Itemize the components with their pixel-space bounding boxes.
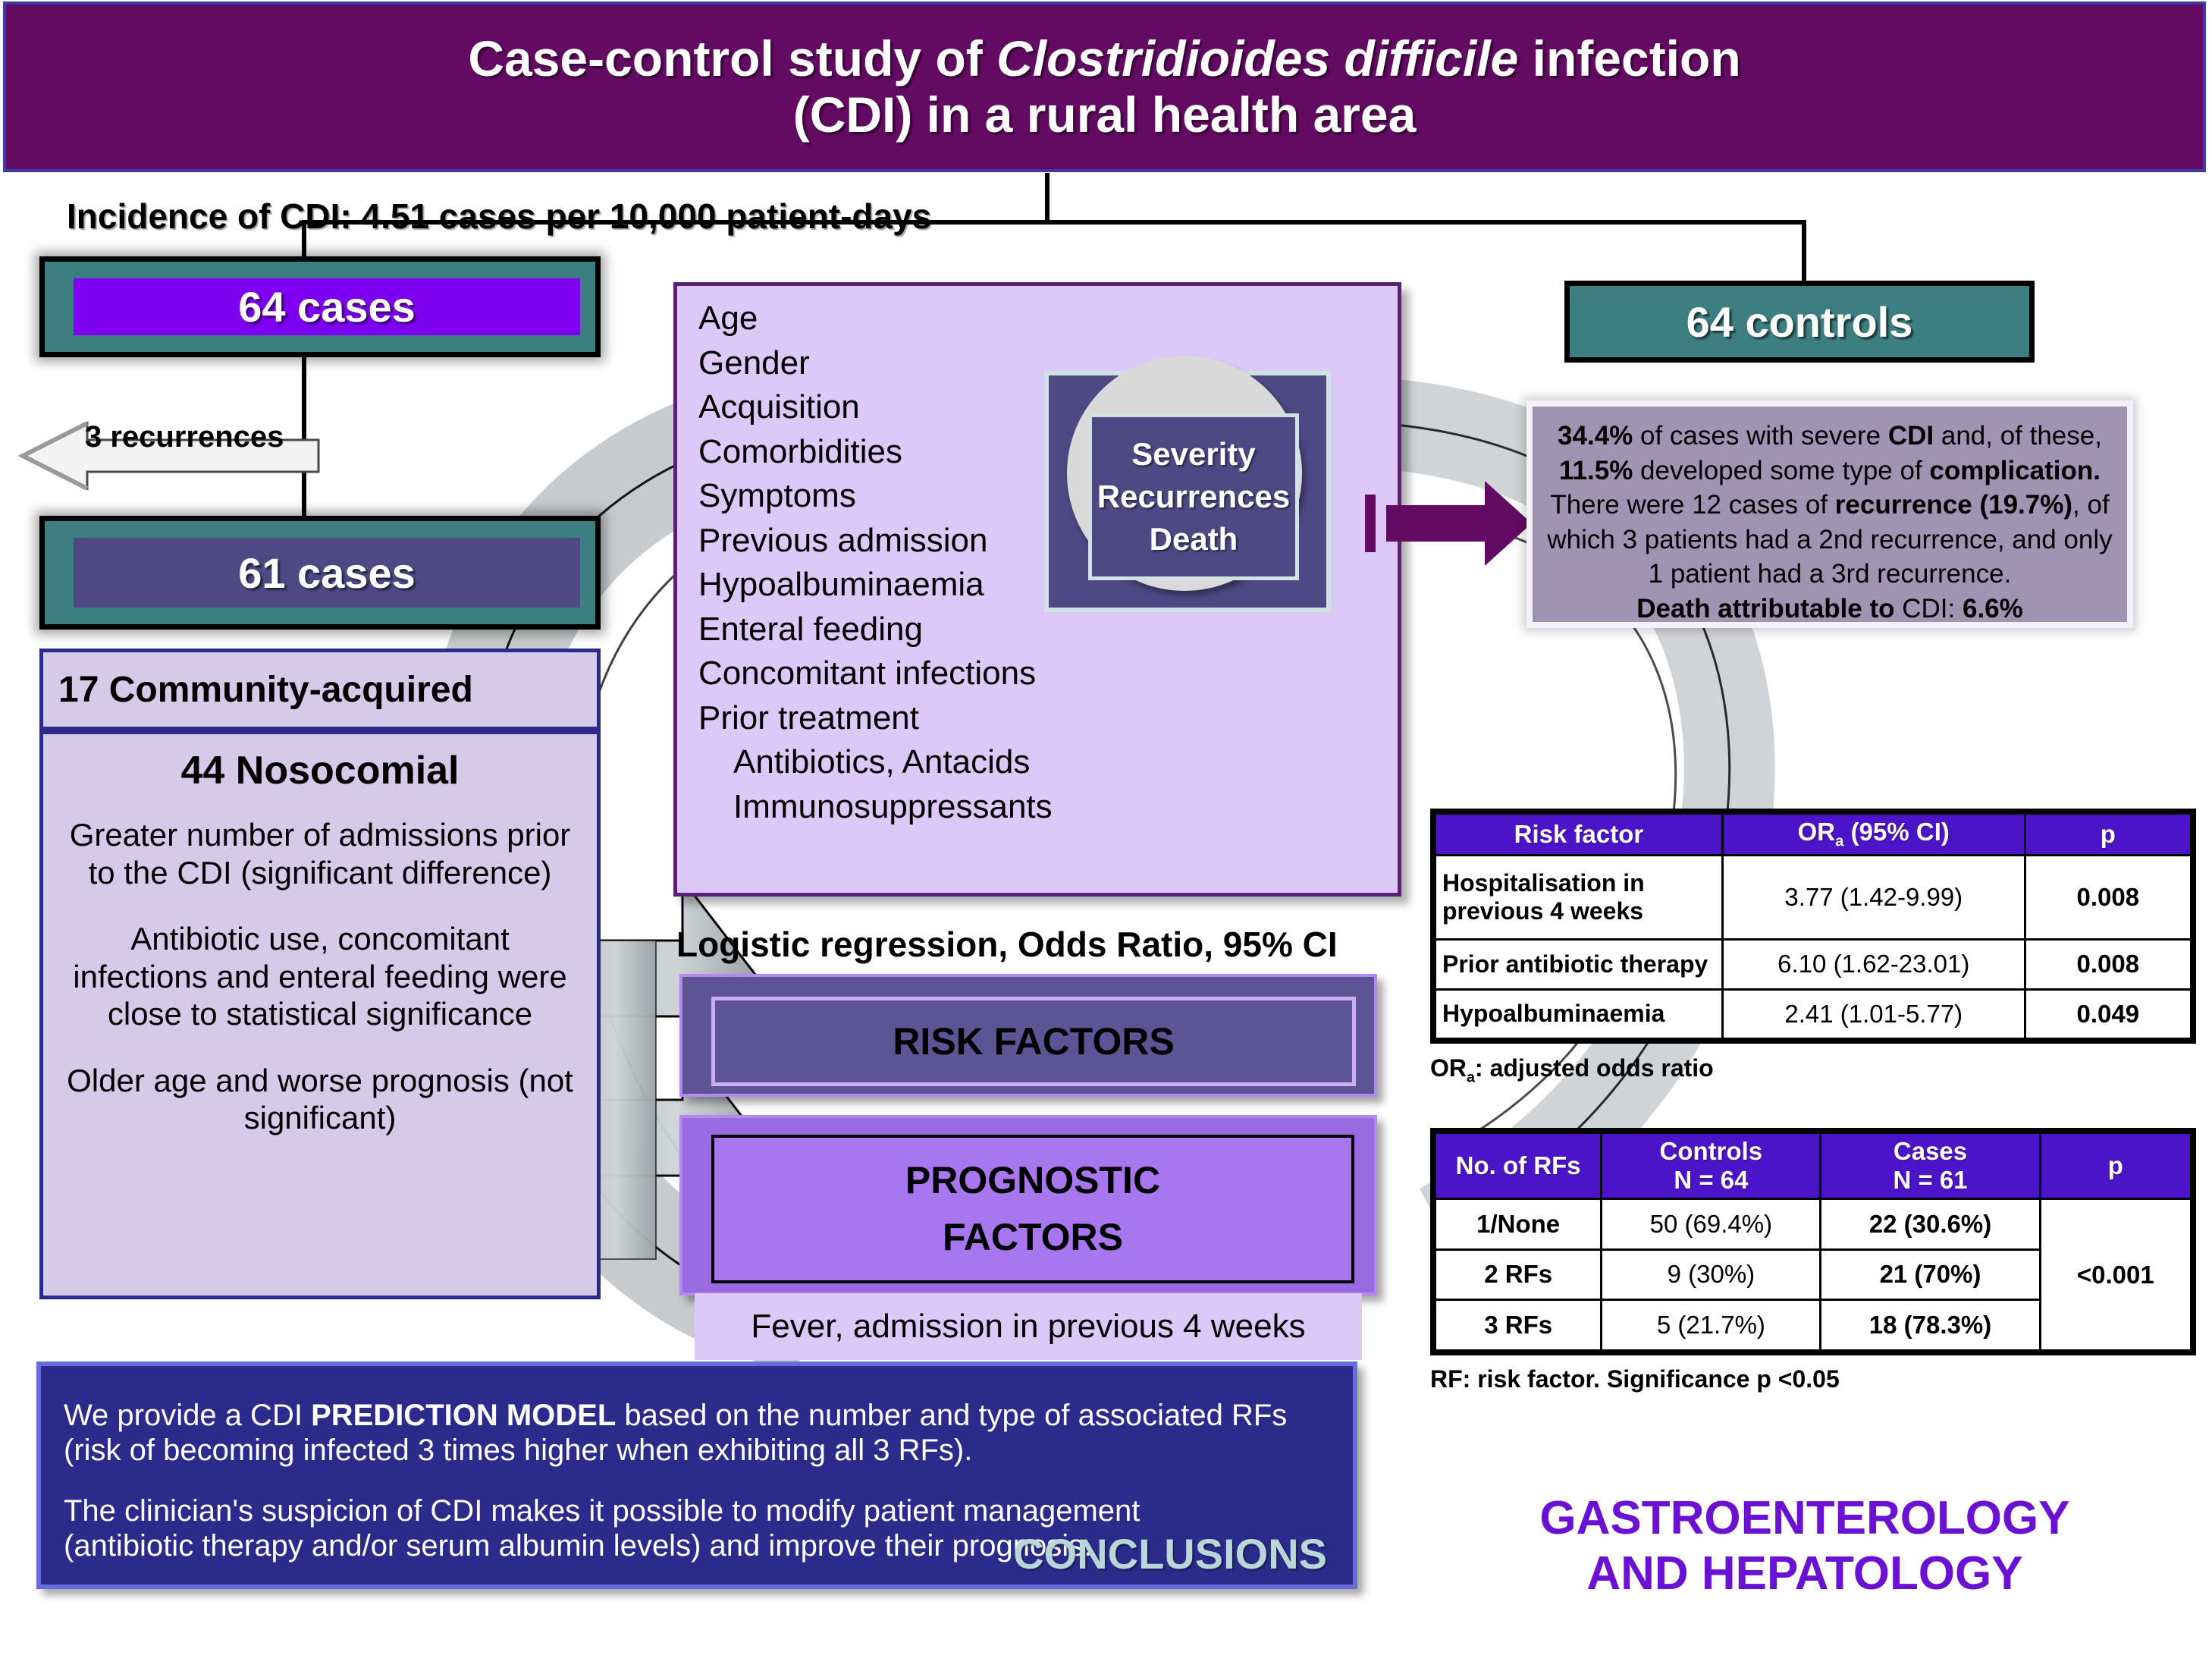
rfs-table-note: RF: risk factor. Significance p <0.05	[1430, 1365, 1840, 1393]
table-row: 1/None 50 (69.4%) 22 (30.6%) <0.001	[1435, 1199, 2192, 1250]
rfs-row2-n: 2 RFs	[1435, 1249, 1602, 1300]
severity-medallion: Severity Recurrences Death	[1044, 371, 1331, 612]
nosocomial-panel: 44 Nosocomial Greater number of admissio…	[39, 730, 601, 1299]
outcome-complication-pct: 11.5%	[1559, 456, 1633, 485]
variable-item-comorbidities: Comorbidities	[698, 430, 1053, 475]
rfs-count-table: No. of RFs ControlsN = 64 CasesN = 61 p …	[1434, 1132, 2192, 1352]
nosocomial-point-3: Older age and worse prognosis (not signi…	[60, 1062, 580, 1137]
variable-subitem-antibiotics: Antibiotics, Antacids	[698, 740, 1053, 785]
variable-item-prior-treatment: Prior treatment	[698, 696, 1053, 741]
th-cases-label: Cases	[1894, 1137, 1967, 1165]
variable-item-gender: Gender	[698, 341, 1053, 386]
outcome-recurrence-bold: recurrence (19.7%)	[1835, 490, 2072, 520]
cases-total-frame: 64 cases	[39, 256, 601, 357]
table-header-row: No. of RFs ControlsN = 64 CasesN = 61 p	[1435, 1133, 2192, 1199]
journal-line-2: AND HEPATOLOGY	[1426, 1546, 2184, 1601]
conclusion-paragraph-1: We provide a CDI PREDICTION MODEL based …	[64, 1398, 1330, 1468]
title-species-italic: Clostridioides difficile	[996, 30, 1518, 86]
rf-row2-factor: Prior antibiotic therapy	[1435, 940, 1723, 989]
rf-row3-factor: Hypoalbuminaemia	[1435, 989, 1723, 1038]
th-cases: CasesN = 61	[1821, 1133, 2040, 1199]
rf-row3-or: 2.41 (1.01-5.77)	[1722, 989, 2025, 1038]
rf-row2-p: 0.008	[2025, 940, 2191, 989]
th-or-ci: ORa (95% CI)	[1722, 814, 2025, 856]
recurrences-label: 3 recurrences	[85, 420, 284, 454]
rf-row1-factor: Hospitalisation in previous 4 weeks	[1435, 855, 1723, 940]
incidence-label: Incidence of CDI: 4.51 cases per 10,000 …	[67, 196, 931, 237]
variable-item-previous-admission: Previous admission	[698, 519, 1053, 564]
table-row: Hospitalisation in previous 4 weeks 3.77…	[1435, 855, 2192, 940]
rfs-row2-controls: 9 (30%)	[1602, 1249, 1821, 1300]
rfs-p-merged: <0.001	[2040, 1199, 2191, 1351]
title-banner: Case-control study of Clostridioides dif…	[3, 2, 2206, 172]
outcome-text-6: CDI:	[1895, 594, 1963, 623]
title-line2: (CDI) in a rural health area	[793, 86, 1417, 143]
th-risk-factor: Risk factor	[1435, 814, 1723, 856]
rfs-row3-cases: 18 (78.3%)	[1821, 1300, 2040, 1351]
outcome-text-1: of cases with severe	[1633, 421, 1888, 451]
journal-name: GASTROENTEROLOGY AND HEPATOLOGY	[1426, 1490, 2184, 1601]
outcome-text-4: There were 12 cases of	[1550, 490, 1834, 520]
table-header-row: Risk factor ORa (95% CI) p	[1435, 814, 2192, 856]
rf-row3-p: 0.049	[2025, 989, 2191, 1038]
severity-outcomes-box: Severity Recurrences Death	[1088, 413, 1299, 580]
connector-horizontal	[302, 220, 1806, 225]
purple-arrow-head	[1485, 481, 1532, 566]
risk-factor-table: Risk factor ORa (95% CI) p Hospitalisati…	[1434, 812, 2192, 1040]
note-or-rest: : adjusted odds ratio	[1475, 1054, 1714, 1082]
cases-total-box: 64 cases	[74, 278, 580, 335]
page-title: Case-control study of Clostridioides dif…	[468, 31, 1740, 143]
conclusion-p1-prefix: We provide a CDI	[64, 1399, 311, 1432]
prognostic-line-1: PROGNOSTIC	[905, 1152, 1160, 1209]
outcomes-summary-box: 34.4% of cases with severe CDI and, of t…	[1526, 400, 2133, 628]
prognostic-factors-outer: PROGNOSTIC FACTORS	[679, 1115, 1377, 1296]
severity-line-3: Death	[1150, 518, 1238, 561]
risk-factor-table-wrap: Risk factor ORa (95% CI) p Hospitalisati…	[1430, 809, 2196, 1044]
prognostic-detail-strip: Fever, admission in previous 4 weeks	[695, 1293, 1362, 1360]
conclusions-label: CONCLUSIONS	[1013, 1530, 1327, 1578]
outcome-text-3: developed some type of	[1633, 456, 1929, 485]
nosocomial-title: 44 Nosocomial	[60, 748, 580, 793]
risk-factors-outer: RISK FACTORS	[679, 974, 1377, 1097]
th-or-sub: a	[1835, 833, 1843, 850]
severity-line-2: Recurrences	[1097, 476, 1290, 518]
rf-row1-p: 0.008	[2025, 855, 2191, 940]
prognostic-line-2: FACTORS	[943, 1209, 1123, 1266]
rfs-row3-n: 3 RFs	[1435, 1300, 1602, 1351]
outcome-death-bold: Death attributable to	[1636, 594, 1894, 623]
rf-row1-or: 3.77 (1.42-9.99)	[1722, 855, 2025, 940]
logistic-regression-label: Logistic regression, Odds Ratio, 95% CI	[676, 924, 1338, 965]
variables-list: Age Gender Acquisition Comorbidities Sym…	[698, 297, 1053, 829]
nosocomial-point-2: Antibiotic use, concomitant infections a…	[60, 920, 580, 1033]
controls-box: 64 controls	[1564, 281, 2035, 363]
outcome-cdi-bold: CDI	[1888, 421, 1934, 451]
rf-row2-or: 6.10 (1.62-23.01)	[1722, 940, 2025, 989]
conclusions-box: We provide a CDI PREDICTION MODEL based …	[36, 1361, 1357, 1589]
outcome-complication-bold: complication.	[1929, 456, 2101, 485]
variable-item-hypoalbuminaemia: Hypoalbuminaemia	[698, 563, 1053, 608]
note-or-sub: a	[1467, 1069, 1475, 1085]
th-p-value: p	[2040, 1133, 2191, 1199]
variable-item-enteral-feeding: Enteral feeding	[698, 608, 1053, 652]
rfs-row2-cases: 21 (70%)	[1821, 1249, 2040, 1300]
risk-factors-box: RISK FACTORS	[711, 997, 1356, 1086]
th-controls-label: Controls	[1660, 1137, 1763, 1165]
rfs-row1-cases: 22 (30.6%)	[1821, 1199, 2040, 1250]
note-or-main: OR	[1430, 1054, 1467, 1082]
variables-panel: Age Gender Acquisition Comorbidities Sym…	[673, 282, 1401, 897]
cases-analysed-frame: 61 cases	[39, 516, 601, 630]
th-or-rest: (95% CI)	[1844, 818, 1950, 846]
th-or-main: OR	[1798, 818, 1836, 846]
table-row: Hypoalbuminaemia 2.41 (1.01-5.77) 0.049	[1435, 989, 2192, 1038]
purple-arrow-stub	[1365, 495, 1376, 552]
table-row: Prior antibiotic therapy 6.10 (1.62-23.0…	[1435, 940, 2192, 989]
outcome-severe-pct: 34.4%	[1558, 421, 1633, 451]
cases-analysed-box: 61 cases	[74, 538, 580, 608]
conclusion-prediction-model-bold: PREDICTION MODEL	[311, 1399, 616, 1432]
variable-item-concomitant-infections: Concomitant infections	[698, 652, 1053, 696]
rfs-row3-controls: 5 (21.7%)	[1602, 1300, 1821, 1351]
connector-title-down	[1045, 173, 1050, 225]
risk-factor-table-note: ORa: adjusted odds ratio	[1430, 1054, 1714, 1086]
connector-to-controls	[1802, 220, 1806, 281]
variable-item-acquisition: Acquisition	[698, 385, 1053, 430]
severity-line-1: Severity	[1131, 433, 1255, 476]
th-no-of-rfs: No. of RFs	[1435, 1133, 1602, 1199]
th-p: p	[2025, 814, 2191, 856]
title-line1-prefix: Case-control study of	[468, 30, 996, 86]
rfs-table-wrap: No. of RFs ControlsN = 64 CasesN = 61 p …	[1430, 1128, 2196, 1355]
community-acquired-label: 17 Community-acquired	[43, 669, 473, 711]
variable-subitem-immunosuppressants: Immunosuppressants	[698, 785, 1053, 830]
purple-arrow-tail	[1386, 505, 1486, 542]
th-cases-n: N = 61	[1893, 1166, 1967, 1194]
variable-item-symptoms: Symptoms	[698, 474, 1053, 519]
th-controls: ControlsN = 64	[1602, 1133, 1821, 1199]
th-controls-n: N = 64	[1674, 1166, 1748, 1194]
journal-line-1: GASTROENTEROLOGY	[1426, 1490, 2184, 1546]
community-acquired-panel: 17 Community-acquired	[39, 649, 601, 730]
graphical-abstract: Case-control study of Clostridioides dif…	[0, 0, 2212, 1674]
rfs-row1-n: 1/None	[1435, 1199, 1602, 1250]
variable-item-age: Age	[698, 297, 1053, 341]
outcome-death-pct: 6.6%	[1963, 594, 2023, 623]
recurrences-arrow: 3 recurrences	[15, 410, 334, 501]
rfs-row1-controls: 50 (69.4%)	[1602, 1199, 1821, 1250]
nosocomial-point-1: Greater number of admissions prior to th…	[60, 816, 580, 891]
outcome-text-2: and, of these,	[1934, 421, 2102, 451]
title-line1-suffix: infection	[1518, 30, 1740, 86]
prognostic-factors-box: PROGNOSTIC FACTORS	[711, 1135, 1354, 1283]
